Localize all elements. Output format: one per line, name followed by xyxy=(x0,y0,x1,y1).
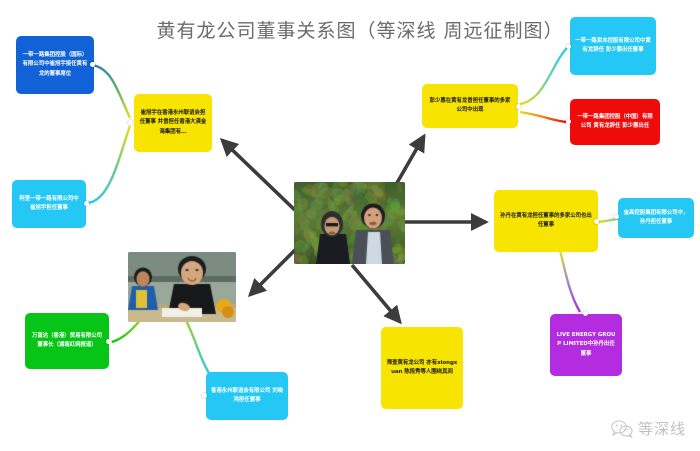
node-n6-label: 一带一路集团控股（中国）有限公司 黄有龙辞任 彭少惠出任 xyxy=(575,113,655,132)
node-n3[interactable]: 崔旭宇在香港永州联谊会担任董事 并曾担任香港大漠金海集团有… xyxy=(134,94,212,152)
node-n5[interactable]: 一带一路资本控股有限公司中黄有龙辞任 彭少惠出任董事 xyxy=(570,17,656,75)
connector-dot-n2 xyxy=(84,201,89,206)
node-n5-label: 一带一路资本控股有限公司中黄有龙辞任 彭少惠出任董事 xyxy=(575,37,651,56)
connector-dot-n3 xyxy=(128,120,133,125)
wechat-icon xyxy=(611,420,633,438)
arrow-center-to-n3 xyxy=(222,140,300,215)
node-n9-label: LIVE ENERGY GROUP LIMITED中孙丹出任董事 xyxy=(555,331,617,359)
diagram-canvas: 黄有龙公司董事关系图（等深线 周远征制图） 一带一路集团控股（国际）有限公司中崔… xyxy=(0,0,700,451)
node-n7-label: 孙丹在黄有龙担任董事的多家公司也出任董事 xyxy=(499,212,593,231)
node-n8-label: 金高控股集团有限公司中，孙丹担任董事 xyxy=(623,209,689,228)
node-n8[interactable]: 金高控股集团有限公司中，孙丹担任董事 xyxy=(618,198,694,238)
node-n1[interactable]: 一带一路集团控股（国际）有限公司中崔旭宇接任黄有龙的董事席位 xyxy=(16,36,94,94)
connector-dot-n6 xyxy=(566,119,571,124)
connector-dot-n4 xyxy=(516,104,521,109)
edge-n4-n6 xyxy=(520,112,566,122)
photo-couple xyxy=(294,182,405,264)
node-n10[interactable]: 筛查黄有龙公司 亦有xiongxuan 陈段秀等人围绕其间 xyxy=(381,327,463,409)
node-n2[interactable]: 阿里一带一路有限公司中崔旭宇担任董事 xyxy=(12,180,86,228)
node-n10-label: 筛查黄有龙公司 亦有xiongxuan 陈段秀等人围绕其间 xyxy=(386,359,458,378)
node-n9[interactable]: LIVE ENERGY GROUP LIMITED中孙丹出任董事 xyxy=(550,314,622,376)
node-n12-label: 香港永州联谊会有限公司 刘晓鸿担任董事 xyxy=(211,387,283,406)
node-n7[interactable]: 孙丹在黄有龙担任董事的多家公司也出任董事 xyxy=(494,190,598,252)
connector-dot-n8 xyxy=(614,214,619,219)
node-n3-label: 崔旭宇在香港永州联谊会担任董事 并曾担任香港大漠金海集团有… xyxy=(139,109,207,137)
photo-meeting xyxy=(128,252,236,322)
node-n4-label: 彭少惠在黄有龙曾担任董事的多家公司中出现 xyxy=(427,97,513,116)
edge-n7-n9 xyxy=(560,250,580,312)
arrow-center-to-n10 xyxy=(352,265,400,322)
connector-dot-n7 xyxy=(594,219,599,224)
connector-dot-n12 xyxy=(202,393,207,398)
node-n2-label: 阿里一带一路有限公司中崔旭宇担任董事 xyxy=(17,195,81,214)
watermark-label: 等深线 xyxy=(638,418,686,439)
watermark: 等深线 xyxy=(611,418,686,439)
connector-dot-n11 xyxy=(106,339,111,344)
page-title: 黄有龙公司董事关系图（等深线 周远征制图） xyxy=(150,16,570,43)
node-n11-label: 万富达（香港）贸易有限公司董事长（湖南红网报道） xyxy=(30,332,104,351)
edge-p2-n12 xyxy=(185,318,212,378)
connector-dot-n1 xyxy=(90,62,95,67)
arrow-center-to-photo2 xyxy=(250,245,300,295)
node-n4[interactable]: 彭少惠在黄有龙曾担任董事的多家公司中出现 xyxy=(422,84,518,128)
connector-dot-n9 xyxy=(583,311,588,316)
node-n11[interactable]: 万富达（香港）贸易有限公司董事长（湖南红网报道） xyxy=(25,313,109,369)
edge-n2-n3 xyxy=(88,126,130,203)
node-n6[interactable]: 一带一路集团控股（中国）有限公司 黄有龙辞任 彭少惠出任 xyxy=(570,99,660,145)
node-n12[interactable]: 香港永州联谊会有限公司 刘晓鸿担任董事 xyxy=(206,372,288,420)
edge-n1-n3 xyxy=(92,65,130,118)
edge-n4-n5 xyxy=(520,47,568,104)
node-n1-label: 一带一路集团控股（国际）有限公司中崔旭宇接任黄有龙的董事席位 xyxy=(21,51,89,79)
connector-dot-n5 xyxy=(566,44,571,49)
